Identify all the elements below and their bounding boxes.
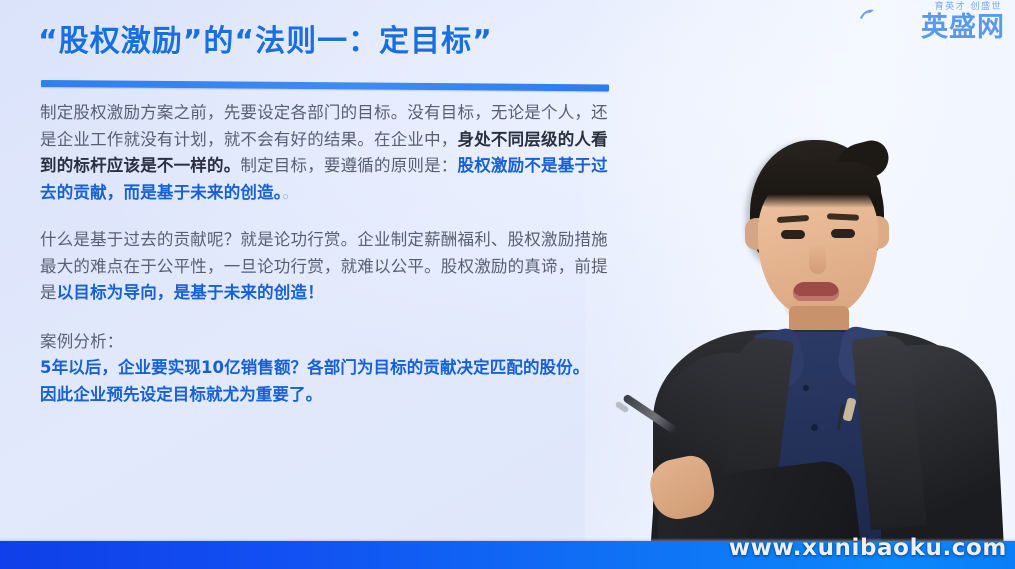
case-study-line-2: 因此企业预先设定目标就尤为重要了。 <box>40 382 616 409</box>
paragraph-2: 什么是基于过去的贡献呢？就是论功行赏。企业制定薪酬福利、股权激励措施最大的难点在… <box>40 227 616 307</box>
presenter-eye-left <box>781 230 805 239</box>
video-frame: “股权激励”的“法则一：定目标” 制定股权激励方案之前，先要设定各部门的目标。没… <box>0 0 1015 569</box>
logo-name: 英盛网 <box>853 13 1005 43</box>
presenter-video-figure <box>613 0 1015 569</box>
slide-body: 制定股权激励方案之前，先要设定各部门的目标。没有目标，无论是个人，还是企业工作就… <box>40 100 616 408</box>
brand-logo: 育英才 创盛世 英盛网 <box>853 2 1005 50</box>
case-study-label: 案例分析： <box>40 329 616 356</box>
presenter-nose <box>809 244 826 274</box>
case-study-line-1: 5年以后，企业要实现10亿销售额？各部门为目标的贡献决定匹配的股份。 <box>40 355 616 382</box>
case-study-block: 案例分析： 5年以后，企业要实现10亿销售额？各部门为目标的贡献决定匹配的股份。… <box>40 329 616 409</box>
presenter-shirt-button-top <box>803 385 809 391</box>
presenter-mouth <box>793 282 839 301</box>
p1-run-2: 制定目标，要遵循的原则是： <box>240 156 457 175</box>
site-watermark: www.xunibaoku.com <box>729 535 1007 561</box>
slide-title: “股权激励”的“法则一：定目标” <box>38 16 638 60</box>
presenter-shirt-button-mid <box>811 424 818 431</box>
presenter-eye-right <box>831 229 855 238</box>
p2-run-1: 以目标为导向，是基于未来的创造！ <box>57 283 324 302</box>
paragraph-1: 制定股权激励方案之前，先要设定各部门的目标。没有目标，无论是个人，还是企业工作就… <box>40 100 616 206</box>
presenter-fringe <box>755 162 881 208</box>
p1-run-4: 。 <box>282 183 299 202</box>
